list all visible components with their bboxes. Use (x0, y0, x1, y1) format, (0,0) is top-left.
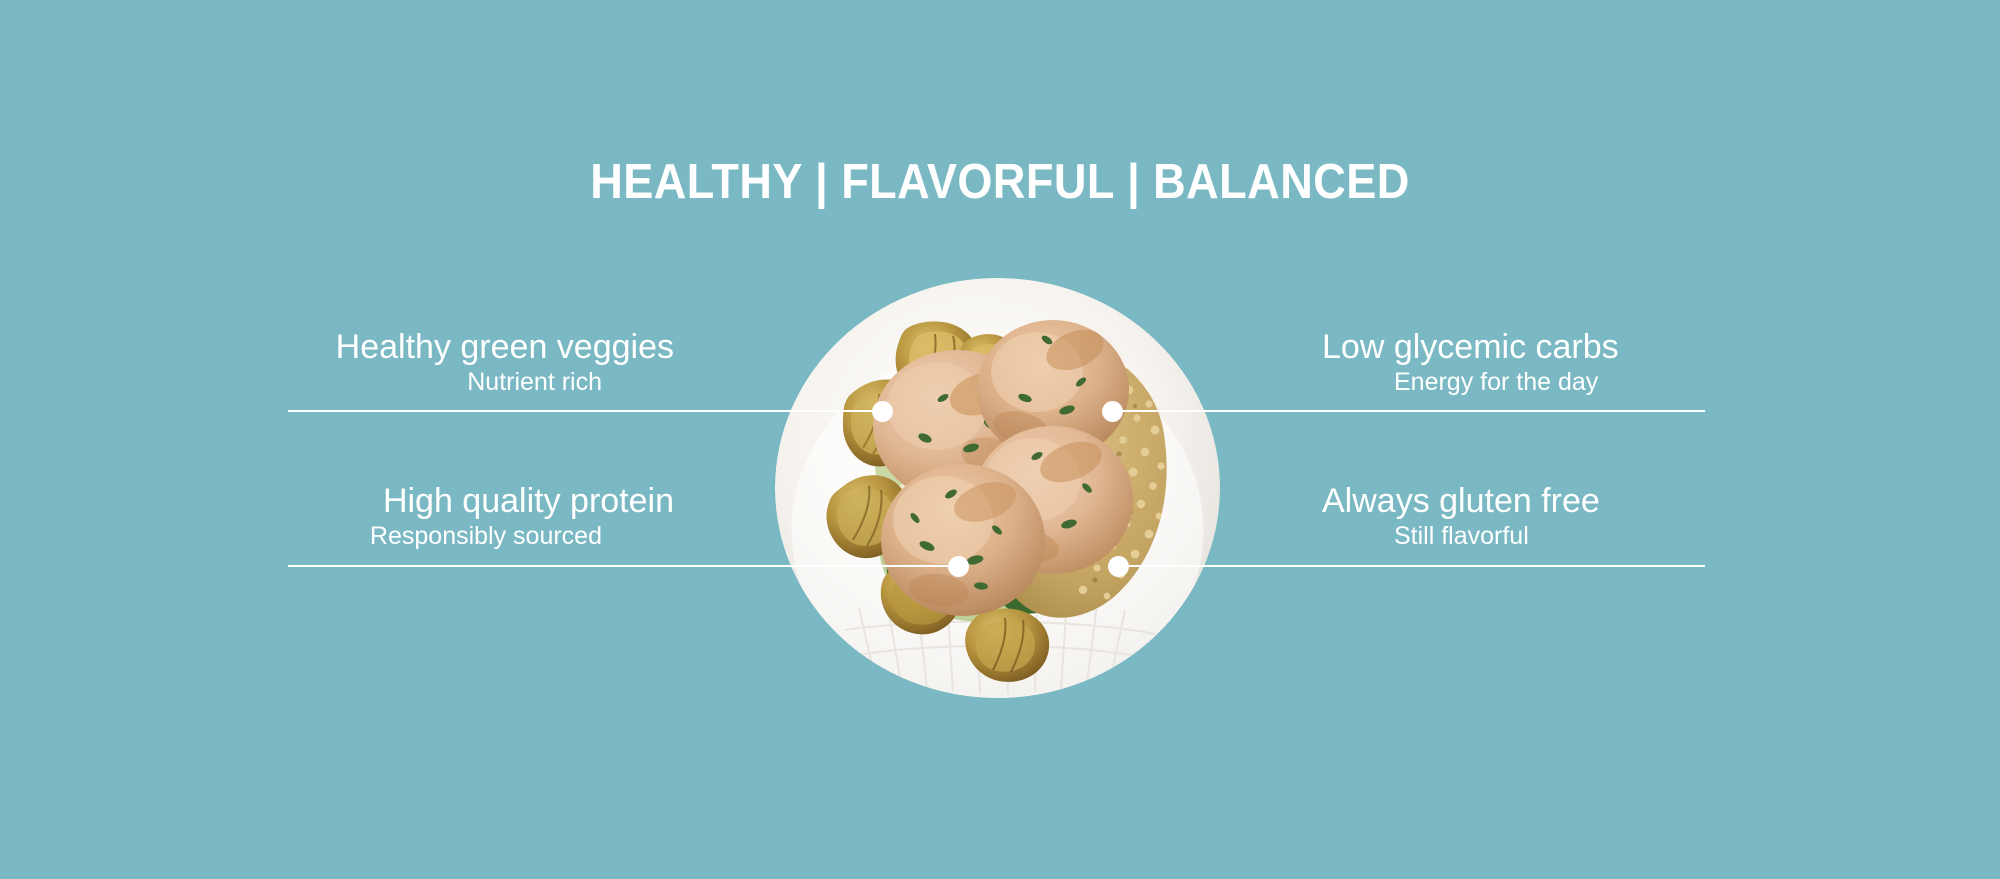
page-title: HEALTHY | FLAVORFUL | BALANCED (80, 158, 1920, 207)
callout-top-left-subtitle: Nutrient rich (288, 367, 674, 397)
callout-top-right-title: Low glycemic carbs (1322, 327, 1708, 367)
callout-bottom-left: High quality protein Responsibly sourced (288, 481, 674, 551)
connector-dot-top-right (1102, 401, 1123, 422)
plate-of-food-photo (775, 278, 1220, 698)
callout-bottom-right: Always gluten free Still flavorful (1322, 481, 1708, 551)
connector-line-bottom-left (288, 565, 960, 567)
connector-dot-top-left (872, 401, 893, 422)
connector-line-top-left (288, 410, 884, 412)
callout-top-right-subtitle: Energy for the day (1322, 367, 1708, 397)
callout-bottom-left-subtitle: Responsibly sourced (288, 521, 674, 551)
callout-top-left-title: Healthy green veggies (288, 327, 674, 367)
callout-bottom-right-subtitle: Still flavorful (1322, 521, 1708, 551)
connector-dot-bottom-right (1108, 556, 1129, 577)
connector-line-top-right (1112, 410, 1705, 412)
callout-bottom-right-title: Always gluten free (1322, 481, 1708, 521)
infographic-banner: HEALTHY | FLAVORFUL | BALANCED (0, 0, 2000, 879)
connector-dot-bottom-left (948, 556, 969, 577)
callout-top-left: Healthy green veggies Nutrient rich (288, 327, 674, 397)
callout-bottom-left-title: High quality protein (288, 481, 674, 521)
callout-top-right: Low glycemic carbs Energy for the day (1322, 327, 1708, 397)
connector-line-bottom-right (1118, 565, 1705, 567)
